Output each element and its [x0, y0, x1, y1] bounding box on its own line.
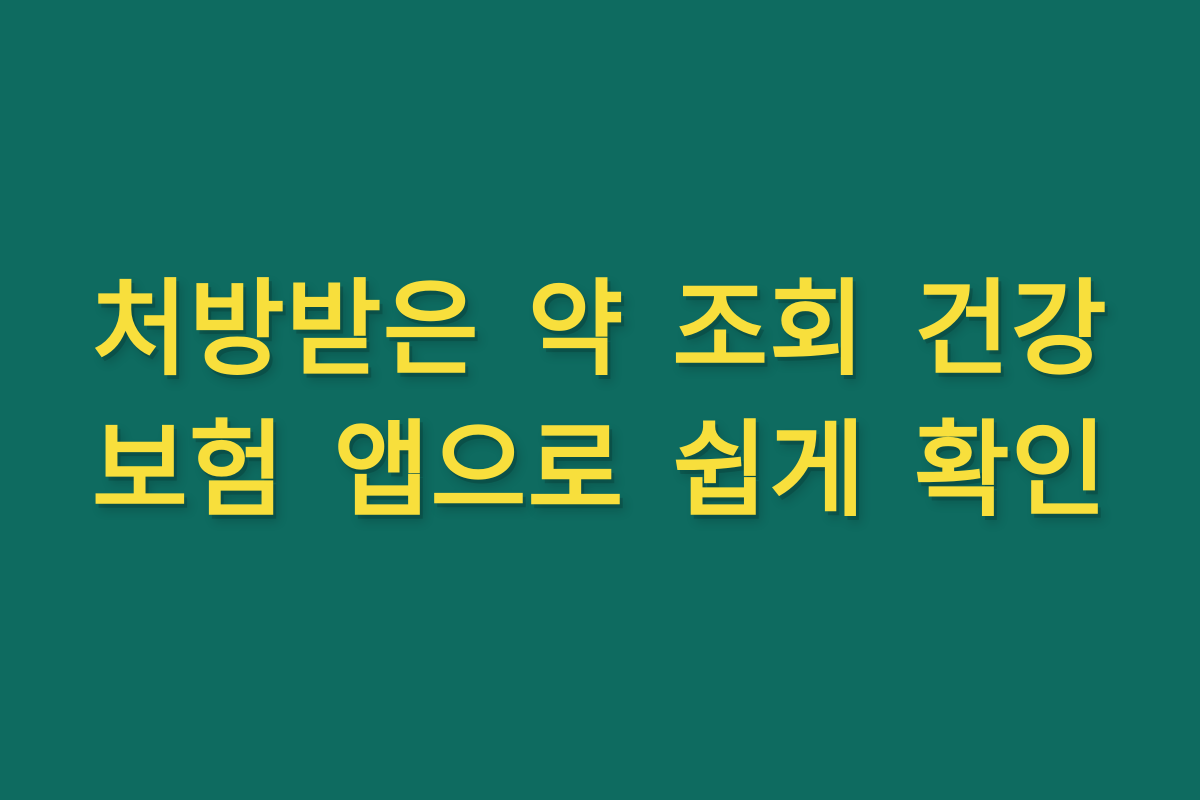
banner-canvas: 처방받은 약 조회 건강 보험 앱으로 쉽게 확인: [0, 0, 1200, 800]
headline-line-2: 보험 앱으로 쉽게 확인: [50, 402, 1150, 539]
headline-text: 처방받은 약 조회 건강 보험 앱으로 쉽게 확인: [50, 261, 1150, 540]
headline-line-1: 처방받은 약 조회 건강: [50, 261, 1150, 398]
